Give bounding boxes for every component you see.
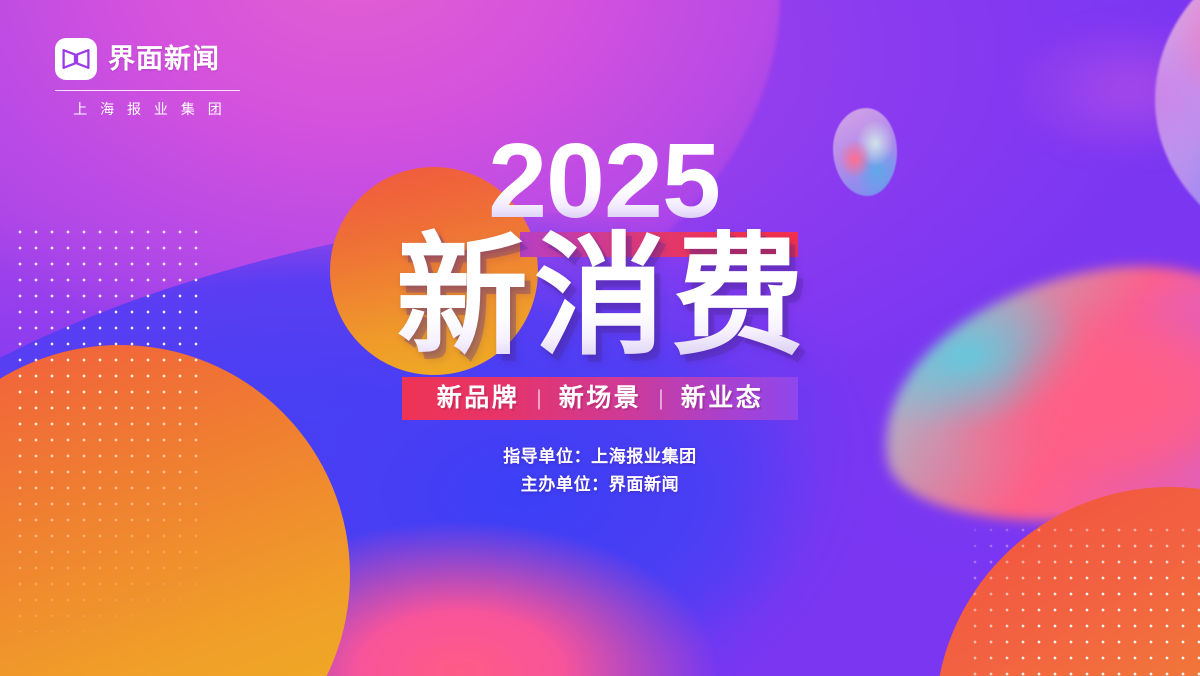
hero-year: 2025 xyxy=(0,128,1200,234)
brand-name: 界面新闻 xyxy=(108,46,220,73)
tagline-bar: 新品牌 | 新场景 | 新业态 xyxy=(402,377,798,420)
brand-logo-block[interactable]: 界面新闻 上 海 报 业 集 团 xyxy=(55,38,240,119)
hero-title: 新消费 xyxy=(390,228,810,365)
brand-divider xyxy=(55,90,240,91)
jiemian-bowtie-logo-icon xyxy=(55,38,97,80)
brand-logo-row: 界面新闻 xyxy=(55,38,240,80)
brand-group-name: 上 海 报 业 集 团 xyxy=(55,99,240,119)
credit-organizer: 主办单位：界面新闻 xyxy=(503,471,697,499)
headline-wrapper: 新消费 xyxy=(390,228,810,365)
tagline-separator-1: | xyxy=(536,388,541,409)
tagline-item-3: 新业态 xyxy=(681,386,764,411)
year-wrapper: 2025 xyxy=(0,128,1200,236)
credits-block: 指导单位：上海报业集团 主办单位：界面新闻 xyxy=(503,443,697,498)
tagline-separator-2: | xyxy=(658,388,663,409)
tagline-item-1: 新品牌 xyxy=(437,386,520,411)
credit-guidance: 指导单位：上海报业集团 xyxy=(503,443,697,471)
poster-canvas: 界面新闻 上 海 报 业 集 团 2025 新消费 新品牌 | 新场景 | 新业… xyxy=(0,0,1200,676)
hero-section: 2025 新消费 新品牌 | 新场景 | 新业态 指导单位：上海报业集团 主办单… xyxy=(0,128,1200,498)
tagline-item-2: 新场景 xyxy=(559,386,642,411)
